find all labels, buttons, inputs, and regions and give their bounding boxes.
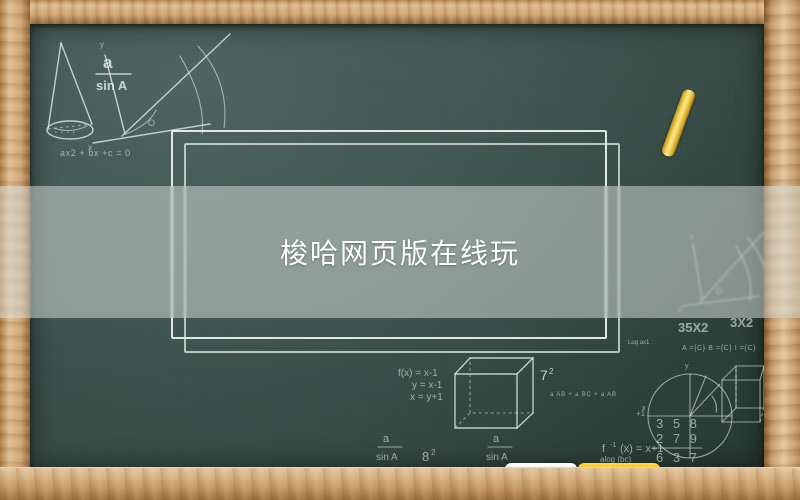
svg-text:3 5 8: 3 5 8 [656,416,700,431]
chalk-seven-squared: 7 2 [540,367,554,383]
chalk-cube-2 [722,366,764,422]
chalk-mult-35x2: 35X2 [678,320,708,335]
chalk-ledge [0,468,800,500]
svg-text:-1: -1 [610,442,616,449]
svg-text:y: y [685,363,689,370]
svg-text:a: a [493,433,500,445]
svg-text:2: 2 [431,448,436,457]
chalk-addition-column: 3 5 8 2 7 9 6 3 7 +1 [636,409,702,465]
svg-text:a: a [383,433,390,445]
svg-text:O: O [148,118,155,128]
svg-text:2: 2 [549,367,554,376]
chalk-quadratic-equation: ax2 + bx +c = 0 [60,148,131,158]
svg-text:• • • •: • • • • [55,130,76,136]
chalk-formula-a-over-sinA-2: a sin A [376,433,402,463]
svg-text:y = x-1: y = x-1 [412,380,443,391]
chalk-log-small: Log ax1 [628,340,650,346]
chalk-cube-1 [455,358,533,428]
svg-text:y: y [100,40,104,49]
svg-text:x: x [88,143,92,152]
svg-text:8: 8 [422,449,429,464]
svg-text:7: 7 [540,367,548,383]
chalk-function-lines: f(x) = x-1 y = x-1 x = y+1 [398,368,443,403]
title-overlay-band: 梭哈网页版在线玩 [0,186,800,318]
svg-text:sin A: sin A [376,452,398,463]
chalk-eight-squared: 8 2 [422,448,436,464]
svg-text:2 7 9: 2 7 9 [656,431,700,446]
svg-text:f: f [602,443,606,455]
frame-top-rail [0,0,800,24]
chalk-formula-a-over-sinA-3: a sin A [486,433,512,463]
screenshot-stage: .cl{stroke:#e8f0ec;stroke-opacity:.78;fi… [0,0,800,500]
chalk-cone-diagram: • • • • [47,43,93,139]
chalk-angle-construction-1: y x O [88,34,230,152]
chalk-set-abc: A ={C} B ={C} I ={C} [682,345,756,352]
svg-text:sin A: sin A [486,452,508,463]
svg-text:x: x [642,405,646,412]
svg-text:f(x) = x-1: f(x) = x-1 [398,368,438,379]
chalk-set-expression: a AB + a BC + a AB [550,392,617,398]
page-title: 梭哈网页版在线玩 [280,232,520,272]
svg-text:x = y+1: x = y+1 [410,392,443,403]
